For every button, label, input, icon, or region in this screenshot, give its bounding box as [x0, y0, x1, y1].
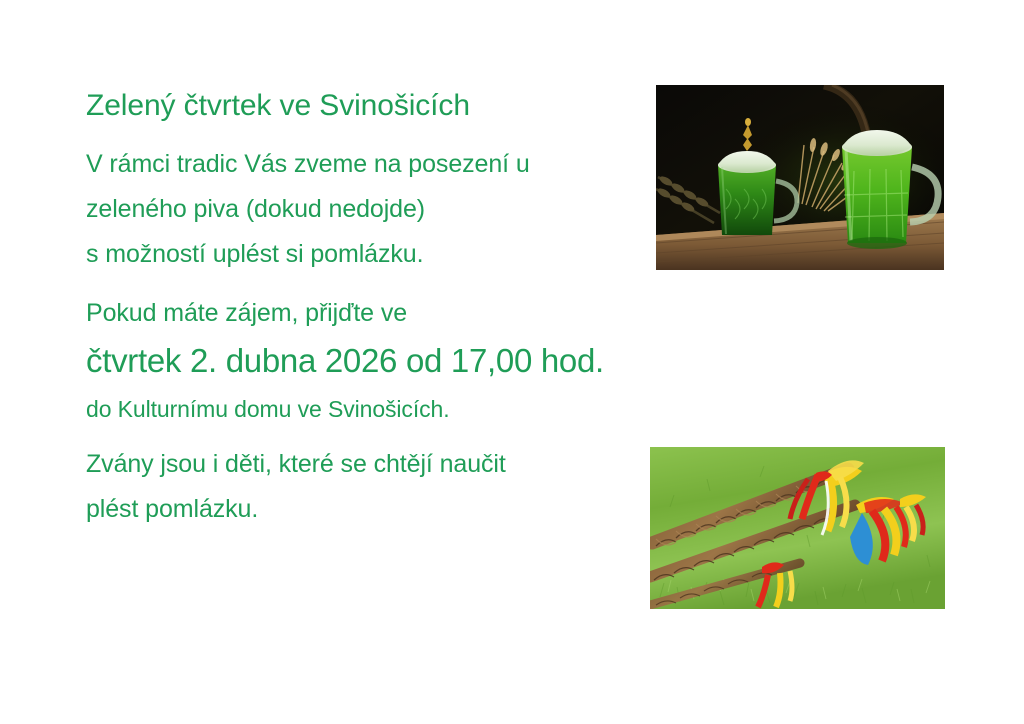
attendance-line-1: Pokud máte zájem, přijďte ve [86, 291, 646, 336]
poster-page: Zelený čtvrtek ve Svinošicích V rámci tr… [0, 0, 1024, 724]
paragraph-children: Zvány jsou i děti, které se chtějí nauči… [86, 442, 646, 532]
green-beer-mugs-illustration [656, 85, 944, 270]
children-line-1: Zvány jsou i děti, které se chtějí nauči… [86, 442, 646, 487]
braided-willow-whip-illustration [650, 447, 945, 609]
paragraph-attendance: Pokud máte zájem, přijďte ve [86, 291, 646, 336]
paragraph-invitation: V rámci tradic Vás zveme na posezení u z… [86, 142, 646, 277]
invitation-line-2: zeleného piva (dokud nedojde) [86, 187, 646, 232]
green-beer-mugs-photo [656, 85, 944, 270]
children-line-2: plést pomlázku. [86, 487, 646, 532]
event-date-time: čtvrtek 2. dubna 2026 od 17,00 hod. [86, 336, 646, 386]
invitation-line-3: s možností uplést si pomlázku. [86, 232, 646, 277]
page-title: Zelený čtvrtek ve Svinošicích [86, 84, 646, 128]
event-venue: do Kulturnímu domu ve Svinošicích. [86, 386, 646, 432]
spacer-2 [86, 432, 646, 442]
poster-text-column: Zelený čtvrtek ve Svinošicích V rámci tr… [86, 84, 646, 532]
braided-willow-whip-photo [650, 447, 945, 609]
spacer-1 [86, 277, 646, 291]
invitation-line-1: V rámci tradic Vás zveme na posezení u [86, 142, 646, 187]
